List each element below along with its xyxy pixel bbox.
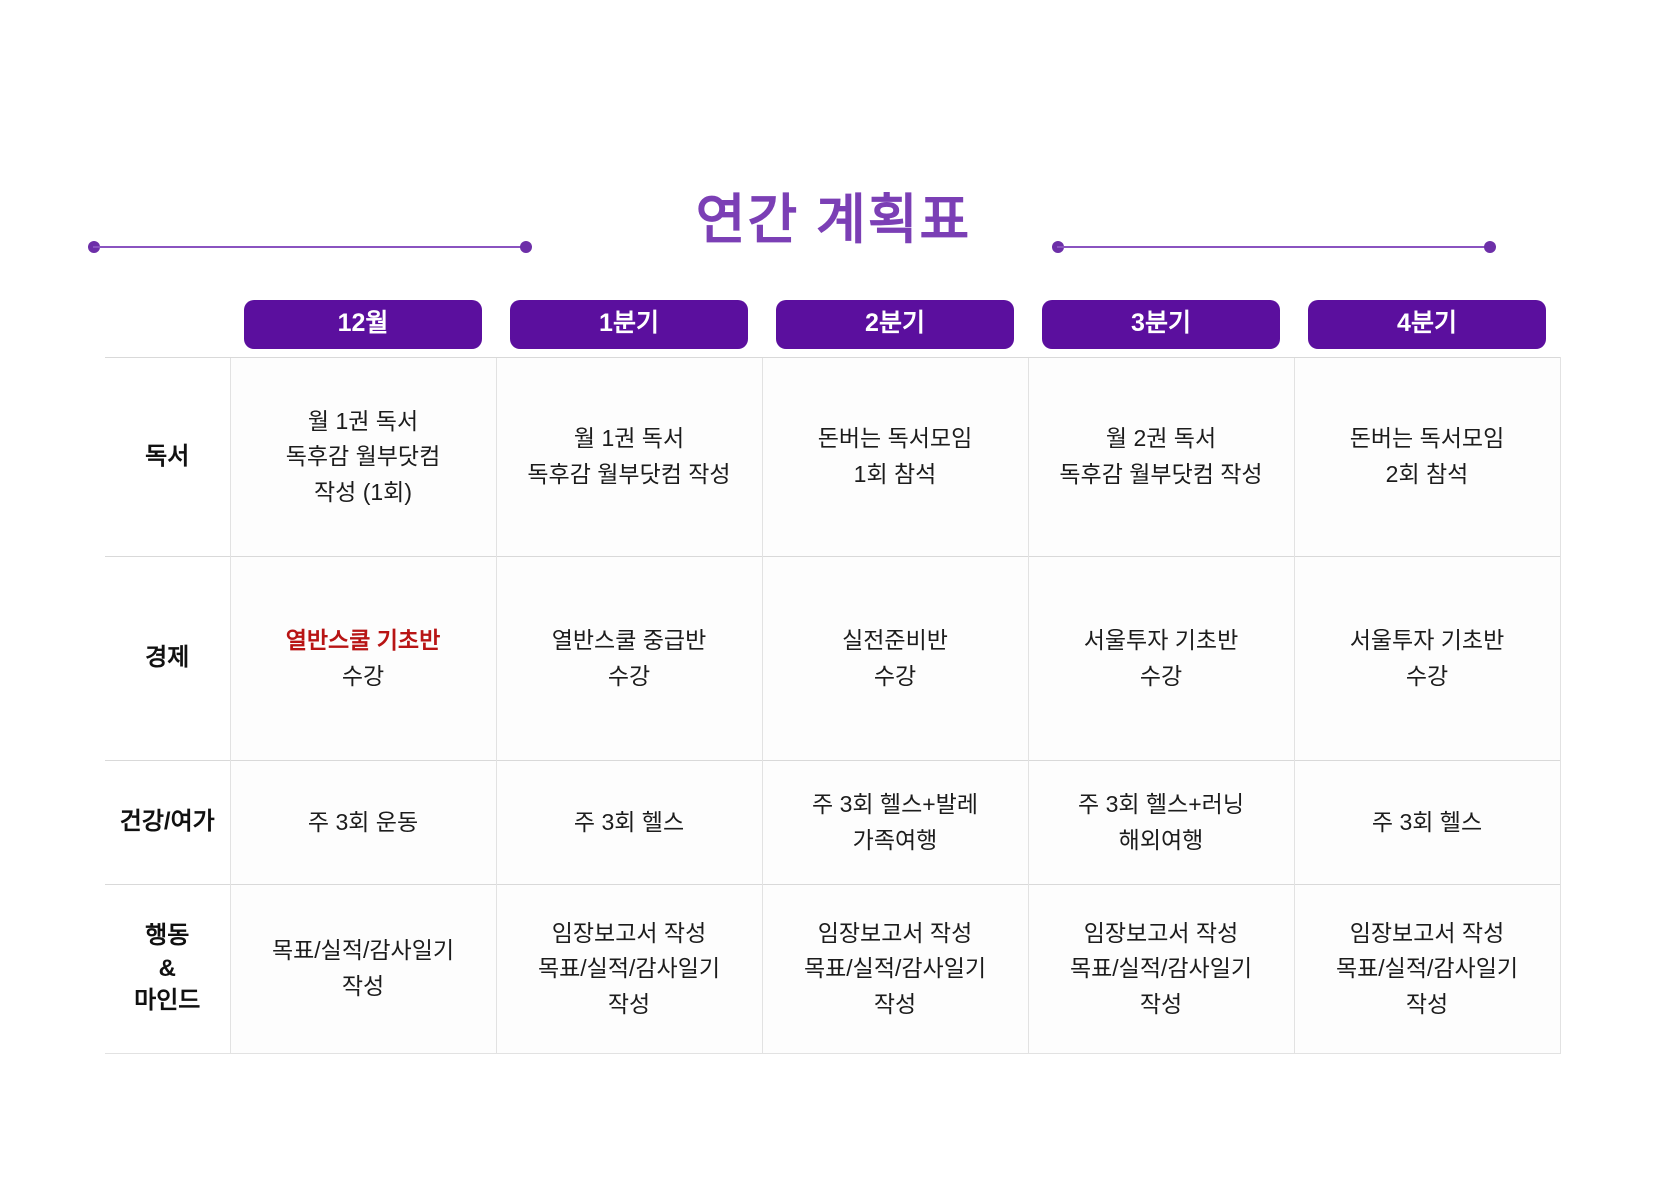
column-header-pill-q1[interactable]: 1분기 (510, 300, 748, 349)
cell-text-highlighted: 열반스쿨 기초반 (286, 627, 441, 653)
cell-text: 임장보고서 작성 목표/실적/감사일기 작성 (1336, 920, 1518, 1017)
cell-text-secondary: 수강 (1303, 659, 1552, 695)
annual-plan-table-wrapper: 12월 1분기 2분기 3분기 4분기 독서 (105, 300, 1560, 1054)
cell-economy-dec[interactable]: 열반스쿨 기초반 수강 (230, 557, 496, 761)
cell-health-q1[interactable]: 주 3회 헬스 (496, 761, 762, 885)
cell-text: 주 3회 헬스+발레 가족여행 (812, 791, 978, 853)
cell-reading-q2[interactable]: 돈버는 독서모임 1회 참석 (762, 358, 1028, 557)
cell-action-q4[interactable]: 임장보고서 작성 목표/실적/감사일기 작성 (1294, 885, 1560, 1054)
column-header-pill-q4[interactable]: 4분기 (1308, 300, 1546, 349)
title-band: 연간 계획표 (0, 185, 1667, 275)
cell-health-dec[interactable]: 주 3회 운동 (230, 761, 496, 885)
cell-economy-q2[interactable]: 실전준비반 수강 (762, 557, 1028, 761)
cell-health-q3[interactable]: 주 3회 헬스+러닝 해외여행 (1028, 761, 1294, 885)
cell-health-q2[interactable]: 주 3회 헬스+발레 가족여행 (762, 761, 1028, 885)
row-label-reading: 독서 (105, 358, 230, 557)
header-pill-row: 12월 1분기 2분기 3분기 4분기 (105, 300, 1560, 358)
cell-text-secondary: 수강 (771, 659, 1020, 695)
cell-action-q3[interactable]: 임장보고서 작성 목표/실적/감사일기 작성 (1028, 885, 1294, 1054)
cell-economy-q4[interactable]: 서울투자 기초반 수강 (1294, 557, 1560, 761)
cell-text: 임장보고서 작성 목표/실적/감사일기 작성 (804, 920, 986, 1017)
cell-text: 주 3회 헬스 (1372, 809, 1482, 835)
cell-text-secondary: 수강 (239, 659, 488, 695)
cell-economy-q1[interactable]: 열반스쿨 중급반 수강 (496, 557, 762, 761)
cell-text: 서울투자 기초반 (1084, 627, 1239, 653)
column-header-pill-q3[interactable]: 3분기 (1042, 300, 1280, 349)
table-row-reading: 독서 월 1권 독서 독후감 월부닷컴 작성 (1회) 월 1권 독서 독후감 … (105, 358, 1560, 557)
cell-reading-dec[interactable]: 월 1권 독서 독후감 월부닷컴 작성 (1회) (230, 358, 496, 557)
header-cell-q4: 4분기 (1294, 300, 1560, 358)
row-label-health-leisure: 건강/여가 (105, 761, 230, 885)
cell-text: 돈버는 독서모임 2회 참석 (1350, 425, 1505, 487)
decorative-rule-right (1052, 240, 1496, 254)
cell-text: 돈버는 독서모임 1회 참석 (818, 425, 973, 487)
header-corner-spacer (105, 300, 230, 358)
cell-action-dec[interactable]: 목표/실적/감사일기 작성 (230, 885, 496, 1054)
rule-line-right (1057, 246, 1491, 248)
table-row-economy: 경제 열반스쿨 기초반 수강 열반스쿨 중급반 수강 실전준비반 수강 서울투자… (105, 557, 1560, 761)
cell-text: 임장보고서 작성 목표/실적/감사일기 작성 (1070, 920, 1252, 1017)
row-label-economy: 경제 (105, 557, 230, 761)
cell-text-secondary: 수강 (505, 659, 754, 695)
table-body: 독서 월 1권 독서 독후감 월부닷컴 작성 (1회) 월 1권 독서 독후감 … (105, 358, 1560, 1054)
cell-text: 월 1권 독서 독후감 월부닷컴 작성 (1회) (286, 408, 441, 505)
column-header-pill-dec[interactable]: 12월 (244, 300, 482, 349)
cell-text: 주 3회 운동 (308, 809, 418, 835)
cell-action-q2[interactable]: 임장보고서 작성 목표/실적/감사일기 작성 (762, 885, 1028, 1054)
cell-action-q1[interactable]: 임장보고서 작성 목표/실적/감사일기 작성 (496, 885, 762, 1054)
rule-dot-right-end (1484, 241, 1496, 253)
header-cell-q1: 1분기 (496, 300, 762, 358)
cell-text: 열반스쿨 중급반 (552, 627, 707, 653)
row-label-action-mind: 행동 & 마인드 (105, 885, 230, 1054)
cell-text: 서울투자 기초반 (1350, 627, 1505, 653)
table-row-action-mind: 행동 & 마인드 목표/실적/감사일기 작성 임장보고서 작성 목표/실적/감사… (105, 885, 1560, 1054)
cell-text-secondary: 수강 (1037, 659, 1286, 695)
cell-text: 주 3회 헬스 (574, 809, 684, 835)
header-cell-q3: 3분기 (1028, 300, 1294, 358)
cell-text: 임장보고서 작성 목표/실적/감사일기 작성 (538, 920, 720, 1017)
table-header: 12월 1분기 2분기 3분기 4분기 (105, 300, 1560, 358)
header-cell-q2: 2분기 (762, 300, 1028, 358)
cell-text: 월 2권 독서 독후감 월부닷컴 작성 (1059, 425, 1262, 487)
cell-text: 월 1권 독서 독후감 월부닷컴 작성 (527, 425, 730, 487)
cell-economy-q3[interactable]: 서울투자 기초반 수강 (1028, 557, 1294, 761)
cell-text: 실전준비반 (842, 627, 948, 653)
cell-text: 주 3회 헬스+러닝 해외여행 (1078, 791, 1244, 853)
cell-health-q4[interactable]: 주 3회 헬스 (1294, 761, 1560, 885)
annual-plan-table: 12월 1분기 2분기 3분기 4분기 독서 (105, 300, 1561, 1054)
cell-reading-q3[interactable]: 월 2권 독서 독후감 월부닷컴 작성 (1028, 358, 1294, 557)
table-row-health-leisure: 건강/여가 주 3회 운동 주 3회 헬스 주 3회 헬스+발레 가족여행 주 … (105, 761, 1560, 885)
column-header-pill-q2[interactable]: 2분기 (776, 300, 1014, 349)
cell-reading-q1[interactable]: 월 1권 독서 독후감 월부닷컴 작성 (496, 358, 762, 557)
cell-reading-q4[interactable]: 돈버는 독서모임 2회 참석 (1294, 358, 1560, 557)
header-cell-dec: 12월 (230, 300, 496, 358)
cell-text: 목표/실적/감사일기 작성 (272, 937, 454, 999)
